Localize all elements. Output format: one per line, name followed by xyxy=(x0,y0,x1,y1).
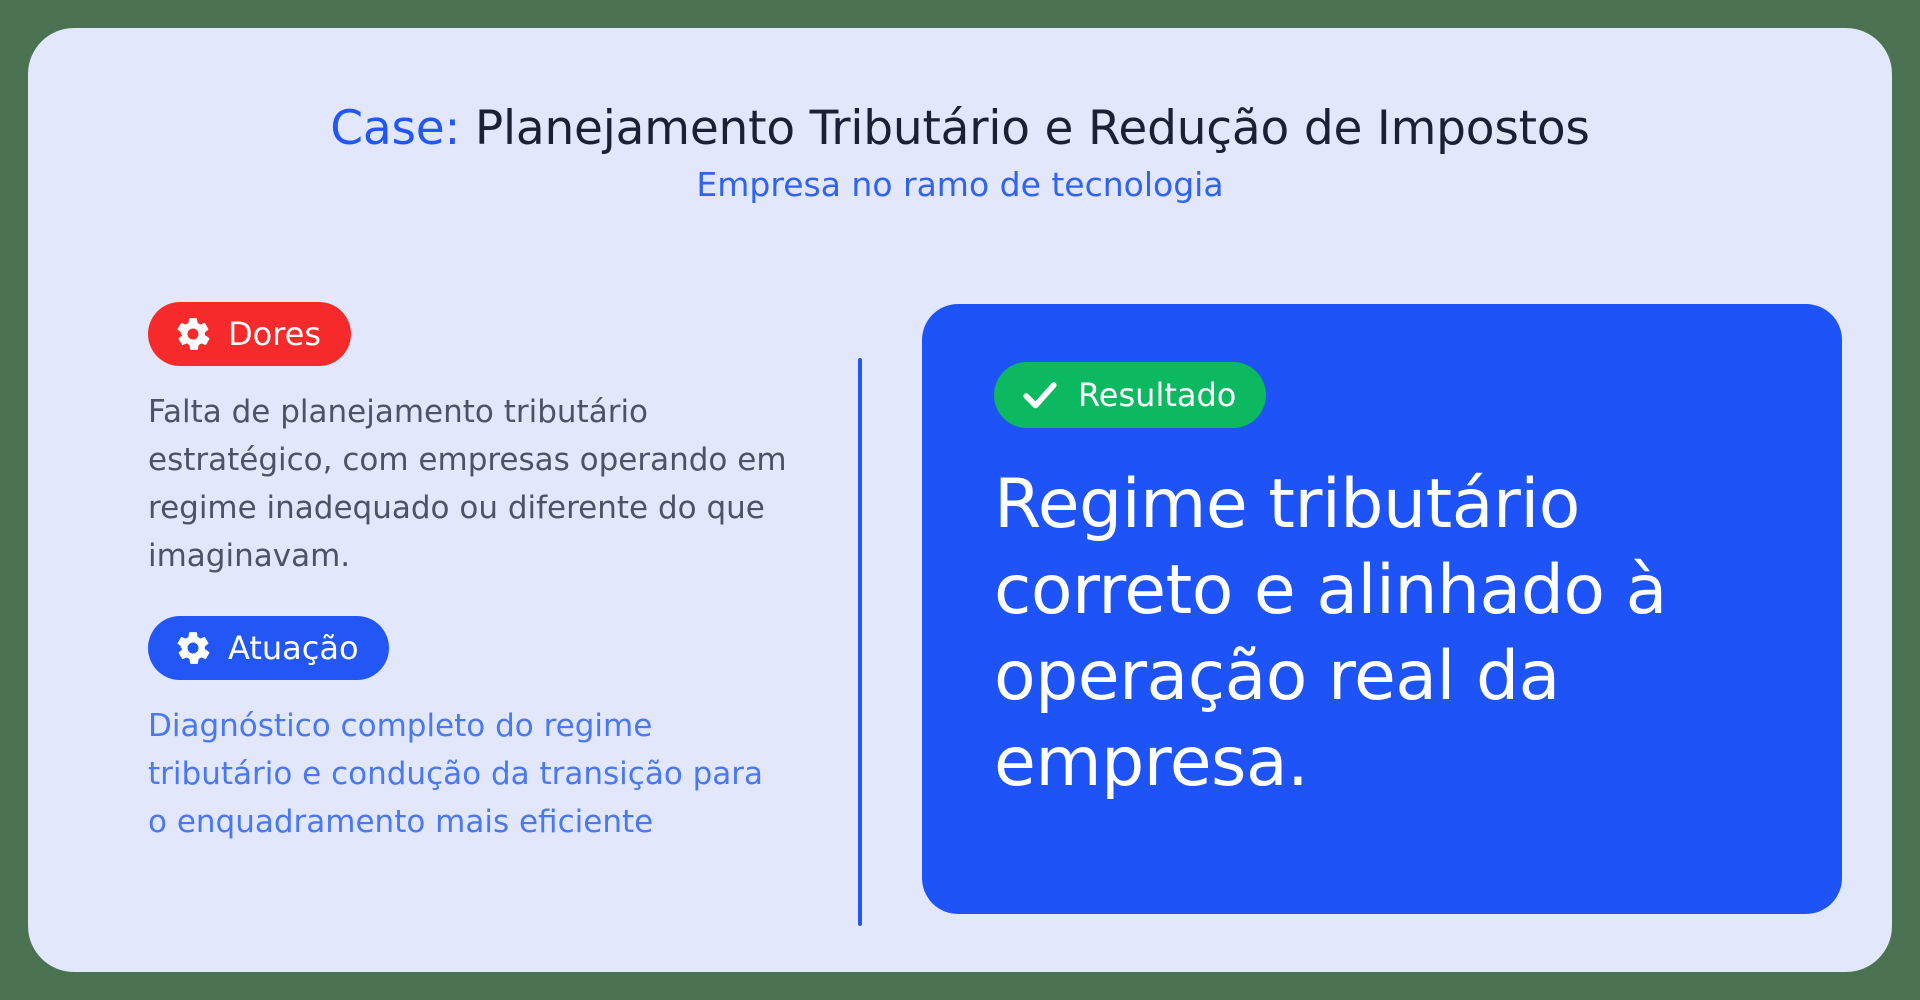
page-subtitle: Empresa no ramo de tecnologia xyxy=(28,164,1892,206)
column-spacer xyxy=(148,580,808,616)
page-title: Case: Planejamento Tributário e Redução … xyxy=(28,100,1892,158)
badge-atuacao-label: Atuação xyxy=(228,630,359,666)
pain-body-text: Falta de planejamento tributário estraté… xyxy=(148,388,798,580)
gear-icon xyxy=(174,629,212,667)
action-body-text: Diagnóstico completo do regime tributári… xyxy=(148,702,788,846)
check-icon xyxy=(1018,373,1062,417)
result-card: Resultado Regime tributário correto e al… xyxy=(922,304,1842,914)
badge-resultado[interactable]: Resultado xyxy=(994,362,1266,428)
badge-dores[interactable]: Dores xyxy=(148,302,351,366)
result-headline: Regime tributário correto e alinhado à o… xyxy=(994,462,1782,806)
title-prefix: Case: xyxy=(330,101,460,156)
slide-card: Case: Planejamento Tributário e Redução … xyxy=(28,28,1892,972)
header: Case: Planejamento Tributário e Redução … xyxy=(28,100,1892,206)
badge-resultado-label: Resultado xyxy=(1078,377,1236,413)
badge-atuacao[interactable]: Atuação xyxy=(148,616,389,680)
column-divider xyxy=(858,358,862,926)
title-rest: Planejamento Tributário e Redução de Imp… xyxy=(460,101,1590,156)
badge-dores-label: Dores xyxy=(228,316,321,352)
gear-icon xyxy=(174,315,212,353)
left-column: Dores Falta de planejamento tributário e… xyxy=(148,302,808,846)
